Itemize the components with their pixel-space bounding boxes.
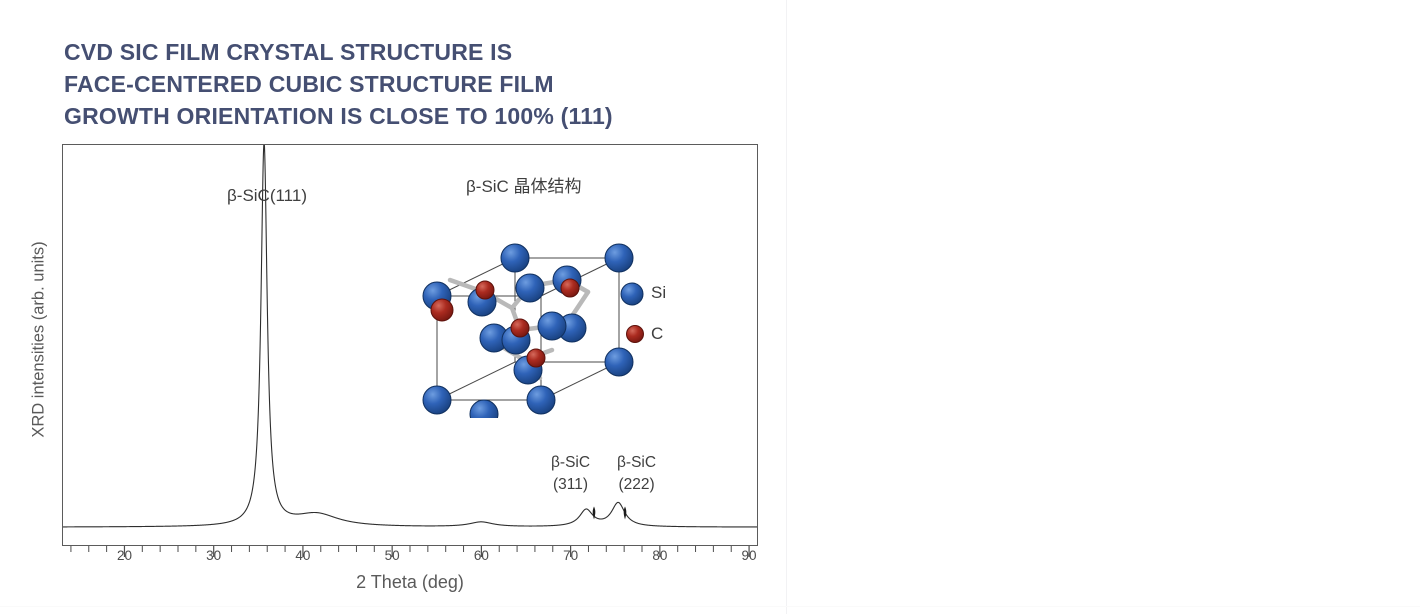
x-tick-label-30: 30 [206, 548, 221, 563]
xrd-chart: XRD intensities (arb. units) 20304050607… [0, 0, 786, 614]
down-arrow-icon-311 [589, 505, 599, 521]
peak-label-sic-111: β-SiC(111) [227, 186, 307, 206]
legend-si-marker-icon [619, 281, 645, 307]
x-tick-label-50: 50 [385, 548, 400, 563]
peak-label-sic-222: β-SiC (222) [617, 452, 656, 496]
x-tick-label-80: 80 [652, 548, 667, 563]
x-tick-label-60: 60 [474, 548, 489, 563]
y-axis-label: XRD intensities (arb. units) [30, 130, 49, 550]
left-panel: CVD SIC FILM CRYSTAL STRUCTURE IS FACE-C… [0, 0, 786, 614]
crystal-structure-diagram [412, 218, 652, 418]
x-tick-label-40: 40 [295, 548, 310, 563]
peak-label-sic-311: β-SiC (311) [551, 452, 590, 496]
peak-label-sic-222-line1: β-SiC [617, 454, 656, 471]
down-arrow-icon-222 [620, 505, 630, 521]
right-panel: SEM DATA OF CVD SIC FILM, CRYSTAL SIZE O… [786, 0, 1420, 614]
x-tick-label-70: 70 [563, 548, 578, 563]
peak-label-sic-222-line2: (222) [618, 476, 654, 493]
legend-c-label: C [651, 324, 663, 344]
legend-si-label: Si [651, 283, 666, 303]
peak-label-sic-311-line1: β-SiC [551, 454, 590, 471]
x-tick-label-20: 20 [117, 548, 132, 563]
legend-c-marker-icon [625, 324, 645, 344]
x-axis-label: 2 Theta (deg) [62, 572, 758, 593]
peak-label-sic-311-line2: (311) [553, 476, 588, 493]
x-tick-label-90: 90 [742, 548, 757, 563]
crystal-structure-title: β-SiC 晶体结构 [466, 172, 582, 197]
x-axis-tick-labels: 2030405060708090 [62, 548, 758, 568]
